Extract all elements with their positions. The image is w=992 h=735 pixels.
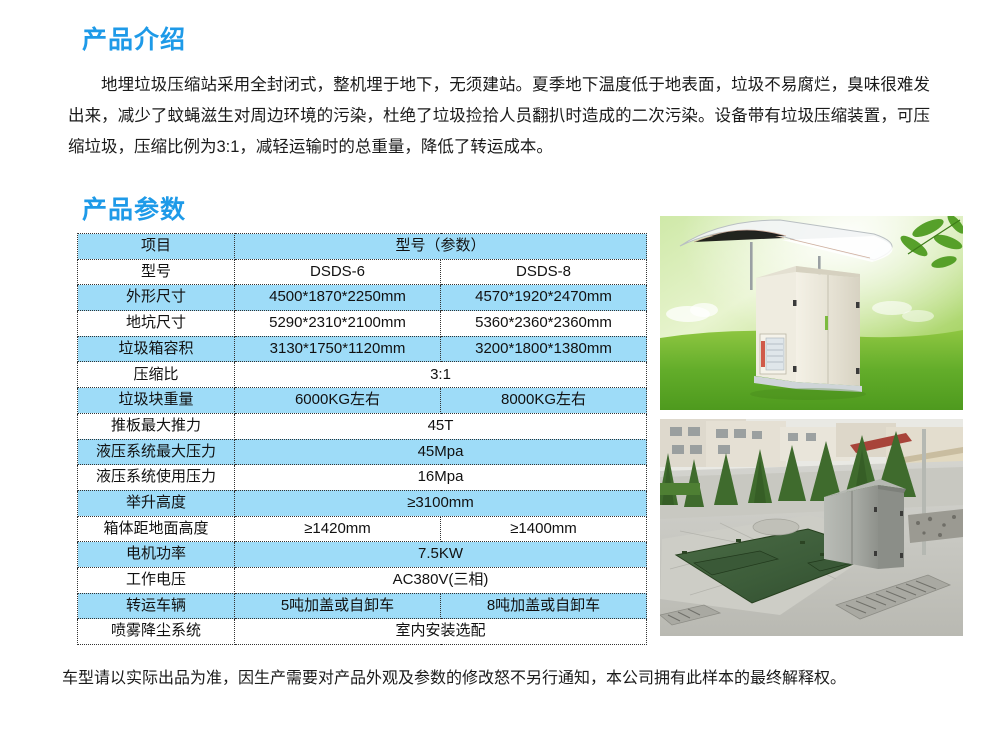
spec-table-row: 液压系统使用压力16Mpa: [78, 465, 647, 491]
spec-row-value-a: 45Mpa: [235, 439, 647, 465]
spec-row-label: 型号: [78, 259, 235, 285]
spec-row-value-b: 3200*1800*1380mm: [441, 336, 647, 362]
product-spec-table: 项目型号（参数）型号DSDS-6DSDS-8外形尺寸4500*1870*2250…: [77, 233, 647, 645]
spec-row-value-b: 8吨加盖或自卸车: [441, 593, 647, 619]
product-intro-paragraph: 地埋垃圾压缩站采用全封闭式，整机埋于地下，无须建站。夏季地下温度低于地表面，垃圾…: [68, 70, 930, 163]
spec-table-row: 项目型号（参数）: [78, 234, 647, 260]
spec-table-body: 项目型号（参数）型号DSDS-6DSDS-8外形尺寸4500*1870*2250…: [78, 234, 647, 645]
spec-row-label: 项目: [78, 234, 235, 260]
spec-table-row: 转运车辆5吨加盖或自卸车8吨加盖或自卸车: [78, 593, 647, 619]
spec-row-value-b: 8000KG左右: [441, 388, 647, 414]
section-heading-product-params: 产品参数: [82, 198, 186, 223]
spec-row-label: 液压系统使用压力: [78, 465, 235, 491]
product-spec-page: 产品介绍 地埋垃圾压缩站采用全封闭式，整机埋于地下，无须建站。夏季地下温度低于地…: [0, 0, 992, 735]
spec-row-value-a: 3:1: [235, 362, 647, 388]
spec-table-row: 地坑尺寸5290*2310*2100mm5360*2360*2360mm: [78, 311, 647, 337]
spec-row-label: 喷雾降尘系统: [78, 619, 235, 645]
spec-row-value-a: DSDS-6: [235, 259, 441, 285]
product-photo-canopy-station: [660, 216, 963, 410]
spec-row-value-a: ≥1420mm: [235, 516, 441, 542]
spec-row-value-a: 16Mpa: [235, 465, 647, 491]
footer-disclaimer-note: 车型请以实际出品为准，因生产需要对产品外观及参数的修改怒不另行通知，本公司拥有此…: [62, 668, 942, 690]
spec-row-value-a: AC380V(三相): [235, 567, 647, 593]
spec-table-row: 喷雾降尘系统室内安装选配: [78, 619, 647, 645]
spec-row-value-b: 4570*1920*2470mm: [441, 285, 647, 311]
spec-row-value-a: 5290*2310*2100mm: [235, 311, 441, 337]
spec-row-label: 液压系统最大压力: [78, 439, 235, 465]
spec-row-label: 地坑尺寸: [78, 311, 235, 337]
spec-table-row: 工作电压AC380V(三相): [78, 567, 647, 593]
spec-row-label: 推板最大推力: [78, 413, 235, 439]
spec-row-value-b: DSDS-8: [441, 259, 647, 285]
spec-row-label: 外形尺寸: [78, 285, 235, 311]
spec-row-label: 箱体距地面高度: [78, 516, 235, 542]
spec-table-row: 推板最大推力45T: [78, 413, 647, 439]
spec-table-row: 型号DSDS-6DSDS-8: [78, 259, 647, 285]
spec-row-value-a: 4500*1870*2250mm: [235, 285, 441, 311]
spec-table-row: 垃圾箱容积3130*1750*1120mm3200*1800*1380mm: [78, 336, 647, 362]
spec-table-row: 举升高度≥3100mm: [78, 490, 647, 516]
spec-table-row: 箱体距地面高度≥1420mm≥1400mm: [78, 516, 647, 542]
spec-row-value-a: 6000KG左右: [235, 388, 441, 414]
product-photo-installed-site: [660, 419, 963, 636]
spec-row-label: 举升高度: [78, 490, 235, 516]
spec-row-value-a: ≥3100mm: [235, 490, 647, 516]
spec-table-row: 外形尺寸4500*1870*2250mm4570*1920*2470mm: [78, 285, 647, 311]
spec-row-value-a: 3130*1750*1120mm: [235, 336, 441, 362]
spec-row-value-b: 5360*2360*2360mm: [441, 311, 647, 337]
spec-row-label: 转运车辆: [78, 593, 235, 619]
spec-table-row: 电机功率7.5KW: [78, 542, 647, 568]
spec-table-row: 垃圾块重量6000KG左右8000KG左右: [78, 388, 647, 414]
installed-site-illustration: [660, 419, 963, 636]
spec-row-value-a: 室内安装选配: [235, 619, 647, 645]
spec-row-value-a: 型号（参数）: [235, 234, 647, 260]
spec-row-value-a: 45T: [235, 413, 647, 439]
spec-row-label: 电机功率: [78, 542, 235, 568]
spec-table-row: 液压系统最大压力45Mpa: [78, 439, 647, 465]
spec-row-label: 垃圾块重量: [78, 388, 235, 414]
section-heading-product-intro: 产品介绍: [82, 28, 186, 53]
spec-row-value-b: ≥1400mm: [441, 516, 647, 542]
spec-row-label: 压缩比: [78, 362, 235, 388]
spec-row-value-a: 7.5KW: [235, 542, 647, 568]
spec-table-row: 压缩比3:1: [78, 362, 647, 388]
spec-row-label: 工作电压: [78, 567, 235, 593]
spec-row-value-a: 5吨加盖或自卸车: [235, 593, 441, 619]
canopy-station-illustration: [660, 216, 963, 410]
spec-row-label: 垃圾箱容积: [78, 336, 235, 362]
